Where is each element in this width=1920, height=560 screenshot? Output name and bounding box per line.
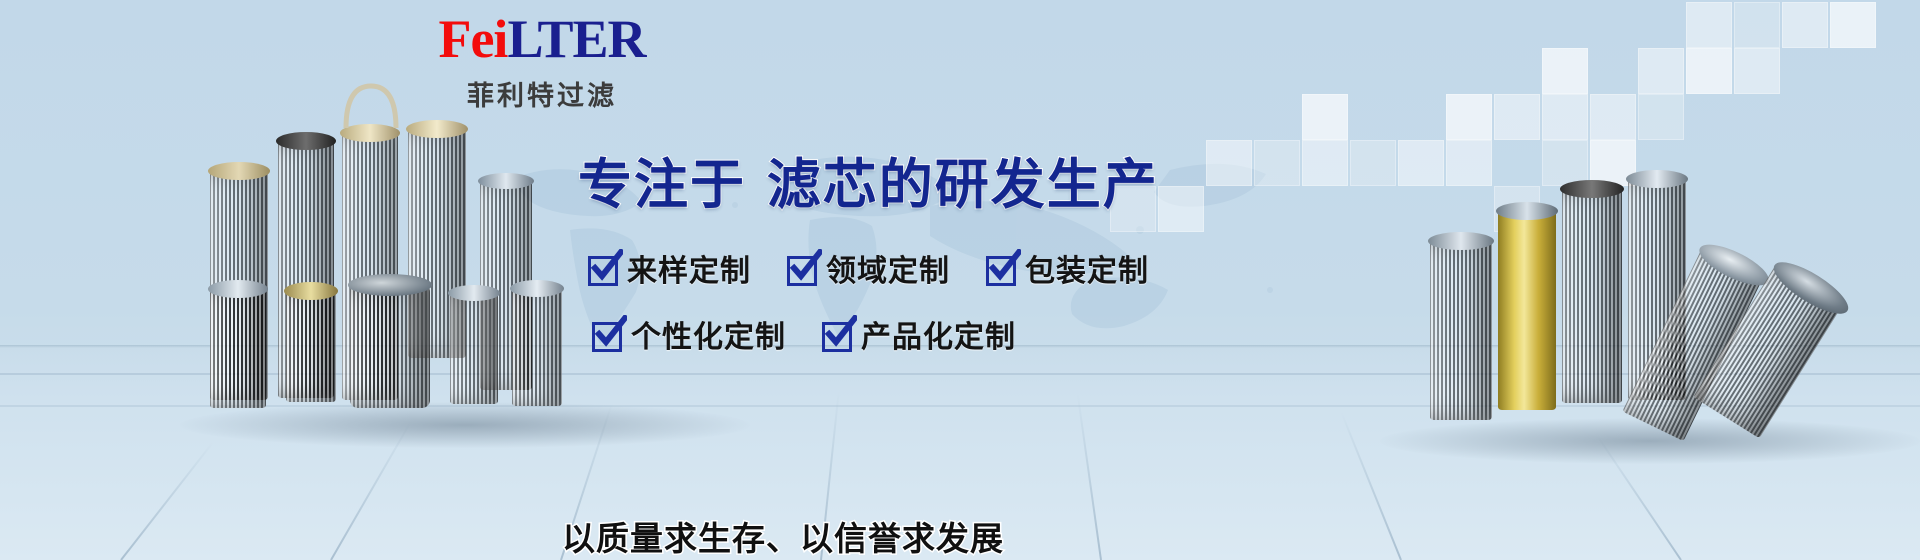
mosaic-tile <box>1494 94 1540 140</box>
filter-cartridge <box>1562 188 1622 403</box>
mosaic-tile <box>1638 48 1684 94</box>
filter-end-cap <box>276 132 336 150</box>
floor-grid-line <box>1077 393 1102 560</box>
mosaic-tile <box>1158 186 1204 232</box>
filter-end-cap <box>1428 232 1494 250</box>
filter-end-cap <box>478 173 534 189</box>
mosaic-tile <box>1350 140 1396 186</box>
product-cluster-right <box>1400 170 1920 460</box>
mosaic-tile <box>1686 48 1732 94</box>
filter-end-cap <box>208 162 270 180</box>
logo-text-fei: Fei <box>438 9 507 69</box>
filter-end-cap <box>348 274 432 296</box>
feature-label: 产品化定制 <box>861 312 1016 356</box>
feature-row-1: 来样定制 领域定制 包装定制 <box>588 246 1228 290</box>
filter-end-cap <box>1560 180 1624 198</box>
logo-subtitle-chinese: 菲利特过滤 <box>392 74 692 113</box>
mosaic-tile <box>1542 48 1588 94</box>
mosaic-tile <box>1830 2 1876 48</box>
mosaic-tile <box>1542 94 1588 140</box>
company-slogan: 以质量求生存、以信誉求发展 <box>562 512 1004 560</box>
filter-cartridge <box>350 284 430 408</box>
checkbox-checked-icon <box>986 253 1016 283</box>
filter-end-cap <box>208 280 268 298</box>
feature-item[interactable]: 领域定制 <box>787 246 950 290</box>
feature-row-2: 个性化定制 产品化定制 <box>592 312 1228 356</box>
filter-end-cap <box>1496 202 1558 220</box>
floor-grid-line <box>120 441 214 560</box>
feature-list: 来样定制 领域定制 包装定制 <box>588 246 1228 378</box>
logo-text-lter: LTER <box>507 9 645 69</box>
checkbox-checked-icon <box>592 319 622 349</box>
filter-cartridge <box>512 288 562 406</box>
filter-end-cap <box>284 282 338 300</box>
filter-end-cap <box>448 285 500 301</box>
logo-wordmark: FeiLTER <box>392 8 692 70</box>
product-shadow <box>180 402 750 448</box>
mosaic-tile <box>1734 48 1780 94</box>
filter-end-cap <box>510 280 564 297</box>
mosaic-tile <box>1734 2 1780 48</box>
brand-logo[interactable]: FeiLTER 菲利特过滤 <box>392 8 692 113</box>
mosaic-tile <box>1254 140 1300 186</box>
mosaic-tile <box>1446 94 1492 140</box>
filter-cartridge <box>450 292 498 404</box>
filter-cartridge-yellow <box>1498 210 1556 410</box>
filter-end-cap <box>1626 170 1688 188</box>
checkbox-checked-icon <box>588 253 618 283</box>
feature-item[interactable]: 产品化定制 <box>822 312 1016 356</box>
mosaic-tile <box>1590 94 1636 140</box>
filter-end-cap <box>406 120 468 138</box>
filter-cartridge <box>210 288 266 408</box>
filter-cartridge <box>1430 240 1492 420</box>
mosaic-tile <box>1302 94 1348 140</box>
mosaic-tile <box>1782 2 1828 48</box>
mosaic-tile <box>1686 2 1732 48</box>
feature-item[interactable]: 来样定制 <box>588 246 751 290</box>
headline-text: 专注于 滤芯的研发生产 <box>578 140 1159 219</box>
checkbox-checked-icon <box>787 253 817 283</box>
mosaic-tile <box>1206 140 1252 186</box>
feature-label: 领域定制 <box>826 246 950 290</box>
mosaic-tile <box>1302 140 1348 186</box>
filter-cartridge <box>286 290 336 402</box>
feature-label: 个性化定制 <box>631 312 786 356</box>
feature-label: 包装定制 <box>1025 246 1149 290</box>
mosaic-tile <box>1638 94 1684 140</box>
checkbox-checked-icon <box>822 319 852 349</box>
feature-label: 来样定制 <box>627 246 751 290</box>
hero-banner: FeiLTER 菲利特过滤 专注于 滤芯的研发生产 来样定制 领域定制 <box>0 0 1920 560</box>
feature-item[interactable]: 个性化定制 <box>592 312 786 356</box>
feature-item[interactable]: 包装定制 <box>986 246 1149 290</box>
